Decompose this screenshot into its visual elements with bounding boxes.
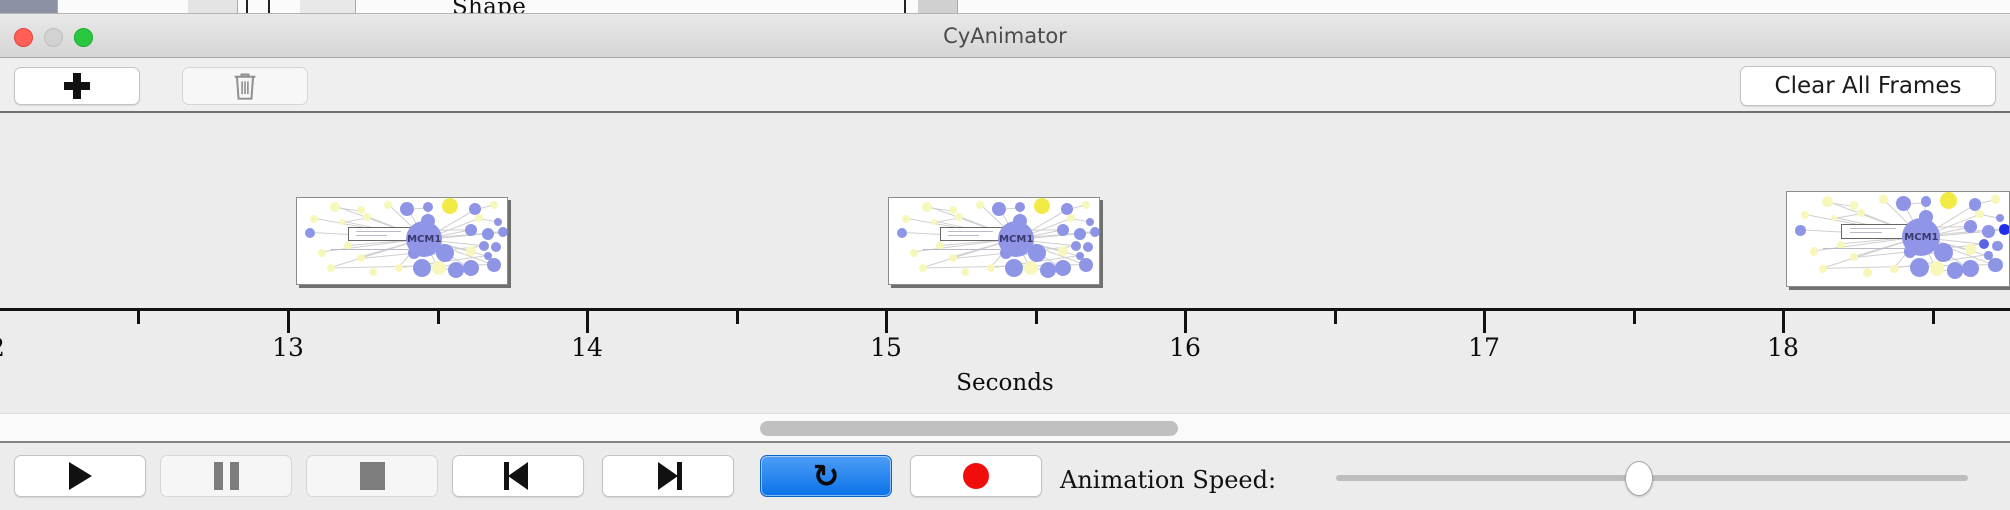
network-node: [1863, 268, 1871, 276]
play-button[interactable]: [14, 455, 146, 497]
network-node: [1058, 246, 1068, 256]
axis-tick: [1782, 311, 1785, 333]
trash-icon: [231, 71, 259, 101]
background-divider: [246, 0, 248, 14]
network-node: [357, 254, 365, 262]
annotation-text-line: [948, 231, 992, 232]
axis-tick: [1334, 311, 1337, 324]
axis-tick: [437, 311, 440, 324]
axis-tick-label: 14: [571, 333, 603, 362]
network-thumbnail: MCM1: [1787, 192, 2009, 286]
network-node: [1034, 198, 1050, 214]
background-window-label: Shape: [452, 0, 526, 14]
axis-tick: [885, 311, 888, 333]
network-node: [1879, 195, 1887, 203]
clear-all-frames-button[interactable]: Clear All Frames: [1740, 66, 1996, 106]
axis-tick-label: 13: [272, 333, 304, 362]
network-node: [922, 202, 932, 212]
network-node: [987, 264, 995, 272]
background-divider: [268, 0, 270, 14]
network-node: [1857, 209, 1865, 217]
title-bar: CyAnimator: [0, 14, 2010, 58]
network-node: [363, 213, 371, 221]
network-node: [465, 224, 477, 236]
axis-tick-label: 12: [0, 333, 5, 362]
axis-tick-label: 15: [870, 333, 902, 362]
axis-tick: [1483, 311, 1486, 333]
play-icon: [69, 462, 92, 490]
network-node: [305, 228, 315, 238]
network-node: [466, 246, 476, 256]
network-node: [442, 198, 458, 214]
network-node: [1965, 244, 1976, 255]
background-tab: [188, 0, 238, 14]
network-node: [1822, 196, 1833, 207]
network-node: [1850, 253, 1858, 261]
network-node: [961, 268, 969, 276]
network-node: [448, 262, 464, 278]
network-node: [1090, 227, 1100, 237]
network-node: [369, 268, 377, 276]
network-thumbnail: MCM1: [889, 198, 1099, 284]
skip-back-button[interactable]: [452, 455, 584, 497]
network-node: [1801, 211, 1809, 219]
axis-tick: [1932, 311, 1935, 324]
axis-tick-label: 18: [1767, 333, 1799, 362]
pause-icon: [214, 462, 239, 490]
network-node: [919, 264, 927, 272]
network-node: [1910, 258, 1929, 277]
network-caption-line: [331, 249, 416, 250]
axis-tick: [287, 311, 290, 333]
plus-icon: [62, 71, 92, 101]
transport-bar: ↻ Animation Speed:: [0, 445, 2010, 510]
axis-tick: [1184, 311, 1187, 333]
network-node: [1055, 260, 1071, 276]
axis-tick: [586, 311, 589, 333]
skip-forward-button[interactable]: [602, 455, 734, 497]
network-annotation-box: [940, 227, 1004, 241]
network-node: [463, 260, 479, 276]
keyframe-2[interactable]: MCM1: [888, 197, 1100, 285]
record-icon: [963, 463, 989, 489]
network-node: [400, 202, 414, 216]
network-caption-line: [923, 249, 1008, 250]
axis-tick: [1035, 311, 1038, 324]
network-node: [432, 261, 446, 275]
network-node: [1982, 225, 1995, 238]
animation-speed-label: Animation Speed:: [1060, 466, 1276, 494]
scrollbar-thumb[interactable]: [760, 421, 1178, 436]
skip-back-icon: [504, 462, 532, 490]
axis-tick: [137, 311, 140, 324]
network-node: [395, 264, 403, 272]
network-node: [330, 202, 340, 212]
network-node: [1057, 224, 1069, 236]
background-window-strip: Shape: [0, 0, 2010, 14]
annotation-text-line: [356, 231, 400, 232]
animation-speed-slider[interactable]: [1336, 475, 1968, 481]
slider-thumb[interactable]: [1625, 461, 1653, 496]
network-node: [494, 218, 502, 226]
pause-button[interactable]: [160, 455, 292, 497]
network-node: [1975, 210, 1983, 218]
network-node: [318, 249, 326, 257]
network-node: [1079, 258, 1093, 272]
horizontal-scrollbar[interactable]: [0, 413, 2010, 443]
keyframe-1[interactable]: MCM1: [296, 197, 508, 285]
network-node: [482, 228, 494, 240]
annotation-text-line: [356, 235, 387, 236]
network-node: [1795, 225, 1806, 236]
axis-tick-label: 17: [1468, 333, 1500, 362]
background-tab: [918, 0, 958, 14]
network-node: [992, 202, 1006, 216]
network-node: [491, 242, 501, 252]
annotation-text-line: [1850, 232, 1883, 233]
timeline-axis: [0, 308, 2010, 311]
network-node: [310, 215, 318, 223]
record-button[interactable]: [910, 455, 1042, 497]
network-node: [1819, 265, 1827, 273]
annotation-text-line: [1850, 228, 1897, 229]
network-node: [1024, 261, 1038, 275]
network-node: [413, 259, 431, 277]
network-node: [1890, 265, 1898, 273]
network-node: [1015, 202, 1025, 212]
network-node: [955, 213, 963, 221]
network-node: [1083, 242, 1093, 252]
network-node: [1962, 260, 1979, 277]
skip-forward-icon: [654, 462, 682, 490]
network-node: [487, 258, 501, 272]
network-node: [475, 214, 483, 222]
network-node: [490, 201, 498, 209]
network-node: [1930, 261, 1945, 276]
network-node: [327, 264, 335, 272]
network-node: [1082, 201, 1090, 209]
background-tab-selected: [0, 0, 58, 14]
network-thumbnail: MCM1: [297, 198, 507, 284]
network-node: [1979, 239, 1990, 250]
network-node: [1969, 198, 1982, 211]
network-node: [1999, 224, 2010, 235]
axis-title: Seconds: [0, 370, 2010, 396]
network-node: [1074, 228, 1086, 240]
network-node: [949, 254, 957, 262]
stop-icon: [360, 462, 385, 490]
axis-tick-label: 16: [1169, 333, 1201, 362]
background-tab: [300, 0, 356, 14]
stop-button[interactable]: [306, 455, 438, 497]
network-node: [1086, 218, 1094, 226]
network-node: [910, 249, 918, 257]
network-node: [1988, 258, 2003, 273]
timeline-panel[interactable]: 12131415161718 MCM1MCM1MCM1 Seconds: [0, 115, 2010, 413]
network-node: [1947, 262, 1964, 279]
network-node: [1067, 214, 1075, 222]
network-node: [931, 219, 937, 225]
network-node: [897, 228, 907, 238]
network-node: [1005, 259, 1023, 277]
network-node: [1040, 262, 1056, 278]
network-node: [1940, 192, 1957, 209]
network-node: [339, 219, 345, 225]
toolbar: Clear All Frames: [0, 58, 2010, 113]
network-node: [423, 202, 433, 212]
network-node: [1992, 241, 2003, 252]
network-node: [1921, 196, 1932, 207]
window-title: CyAnimator: [0, 14, 2010, 58]
axis-tick: [736, 311, 739, 324]
clear-all-frames-label: Clear All Frames: [1775, 73, 1962, 99]
loop-button[interactable]: ↻: [760, 455, 892, 497]
network-node: [1810, 247, 1818, 255]
annotation-text-line: [948, 235, 979, 236]
network-node: [498, 227, 508, 237]
network-node: [1996, 214, 2004, 222]
axis-tick: [1633, 311, 1636, 324]
network-caption-line: [1823, 248, 1913, 249]
network-annotation-box: [348, 227, 412, 241]
network-node: [1964, 220, 1977, 233]
network-node: [479, 241, 489, 251]
network-node: [1071, 241, 1081, 251]
network-node: [1850, 201, 1858, 209]
network-node: [1896, 196, 1911, 211]
network-annotation-box: [1841, 224, 1908, 239]
network-node: [1991, 195, 1999, 203]
network-node: [902, 215, 910, 223]
keyframe-3[interactable]: MCM1: [1786, 191, 2010, 287]
loop-icon: ↻: [813, 460, 840, 492]
cyanimator-window: Shape CyAnimator Clear All Frames 121314…: [0, 0, 2010, 510]
background-divider: [904, 0, 906, 14]
add-frame-button[interactable]: [14, 67, 140, 105]
delete-frame-button[interactable]: [182, 67, 308, 105]
